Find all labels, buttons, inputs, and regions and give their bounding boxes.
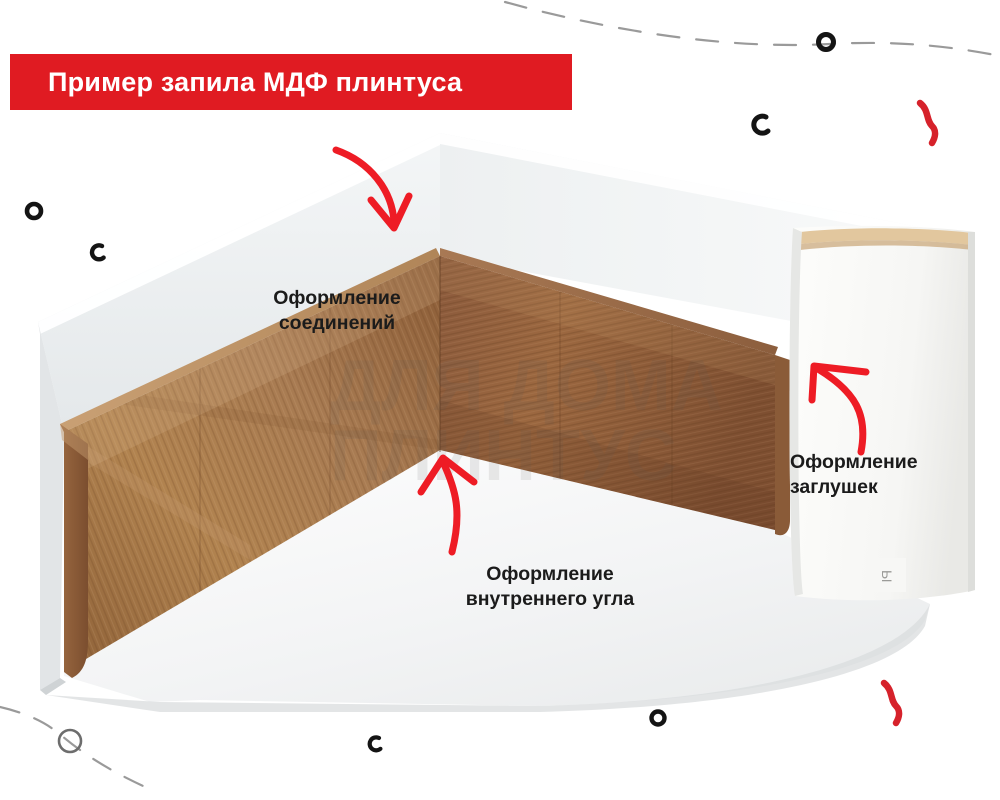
- callout-label-joints: Оформление соединений: [242, 286, 432, 336]
- skirting-board-photo: ДЛЯ ДОМА ПЛИНТУС Ы: [0, 0, 1000, 800]
- svg-text:ДЛЯ ДОМА: ДЛЯ ДОМА: [330, 346, 723, 426]
- cap-logo-mark: Ы: [872, 558, 906, 592]
- skirting-left-end-cut: [60, 424, 88, 678]
- skirting-right-end-cut: [775, 355, 790, 535]
- title-text: Пример запила МДФ плинтуса: [48, 69, 462, 96]
- title-banner: Пример запила МДФ плинтуса: [10, 54, 572, 110]
- svg-text:ПЛИНТУС: ПЛИНТУС: [330, 416, 677, 496]
- screenshot-canvas: ДЛЯ ДОМА ПЛИНТУС Ы: [0, 0, 1000, 800]
- svg-text:Ы: Ы: [879, 570, 895, 582]
- callout-label-end-caps: Оформление заглушек: [790, 450, 970, 500]
- end-cap-board: Ы: [789, 226, 975, 600]
- watermark: ДЛЯ ДОМА ПЛИНТУС: [330, 346, 723, 496]
- callout-label-inner-corner: Оформление внутреннего угла: [420, 562, 680, 612]
